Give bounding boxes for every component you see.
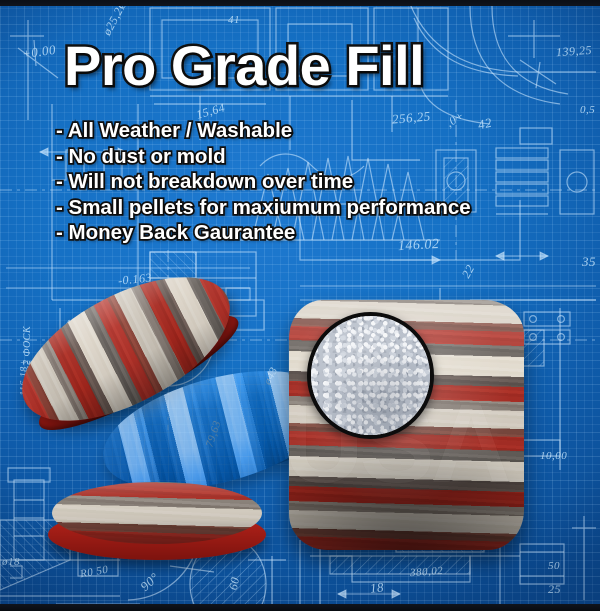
feature-list: - All Weather / Washable- No dust or mol… — [56, 118, 471, 246]
poster-bottom-edge — [0, 604, 600, 611]
pellet-shading — [311, 316, 430, 435]
page-title: Pro Grade Fill — [64, 38, 424, 94]
feature-item: - Will not breakdown over time — [56, 169, 471, 195]
feature-item: - No dust or mold — [56, 144, 471, 170]
feature-item: - Money Back Gaurantee — [56, 220, 471, 246]
magnifier-circle-icon — [307, 312, 434, 439]
cornhole-bag-bottom — [48, 482, 266, 560]
feature-item: - Small pellets for maxiumum performance — [56, 195, 471, 221]
feature-item: - All Weather / Washable — [56, 118, 471, 144]
product-poster: +0.00ø25,2Ø4115,64256,25,0+42139,250,5-0… — [0, 0, 600, 611]
poster-top-edge — [0, 0, 600, 6]
bag-shell — [52, 482, 261, 544]
flag-fabric-texture — [52, 482, 261, 544]
